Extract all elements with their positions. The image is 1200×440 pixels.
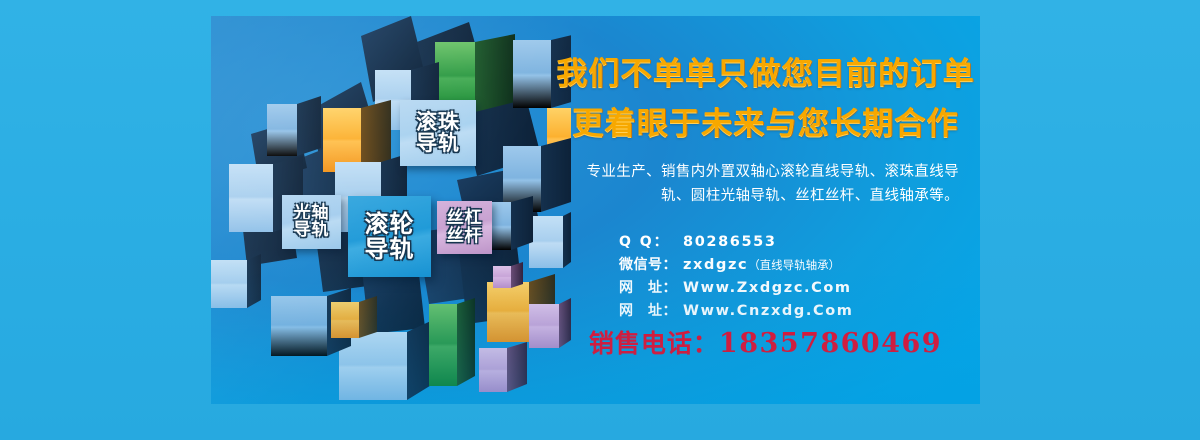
contact-row-website-2: 网 址： Www.Cnzxdg.Com: [551, 300, 980, 323]
contact-label-wechat: 微信号：: [551, 254, 683, 274]
contact-value-wechat[interactable]: zxdgzc: [683, 257, 748, 273]
product-label-line2: 导轨: [416, 133, 460, 154]
product-label-line2: 导轨: [365, 237, 415, 261]
contact-info-block: Q Q： 80286553 微信号： zxdgzc （直线导轨轴承） 网 址： …: [551, 231, 980, 323]
cube-green-bottom: [429, 298, 475, 386]
contact-label-qq: Q Q：: [551, 231, 683, 251]
product-label-guangzhou-daogui[interactable]: 光轴 导轨: [282, 195, 341, 249]
contact-label-website-1: 网 址：: [551, 277, 683, 297]
contact-label-website-2: 网 址：: [551, 300, 683, 320]
contact-note-wechat: （直线导轨轴承）: [748, 257, 840, 273]
headline-line-1: 我们不单单只做您目前的订单: [551, 48, 980, 93]
sales-phone-block[interactable]: 销售电话：18357860469: [551, 324, 980, 360]
product-label-line1: 滚轮: [365, 212, 415, 236]
sales-phone-label: 销售电话：: [589, 329, 719, 358]
cube-blue-far-left: [267, 96, 321, 156]
company-description: 专业生产、销售内外置双轴心滚轮直线导轨、滚珠直线导轨、圆柱光轴导轨、丝杠丝杆、直…: [577, 160, 959, 208]
contact-row-qq: Q Q： 80286553: [551, 231, 980, 254]
product-label-line2: 丝杆: [447, 228, 483, 245]
cube-blue-bottom-farleft: [211, 254, 261, 308]
product-label-gunlun-daogui[interactable]: 滚轮 导轨: [348, 196, 431, 277]
product-label-line1: 丝杠: [447, 210, 483, 227]
product-label-gunzhu-daogui[interactable]: 滚珠 导轨: [400, 100, 476, 166]
cube-pink-mid-right: [479, 342, 527, 392]
product-label-line2: 导轨: [294, 222, 330, 239]
contact-row-website-1: 网 址： Www.Zxdgzc.Com: [551, 277, 980, 300]
headline-line-2: 更着眼于未来与您长期合作: [551, 98, 980, 143]
promo-banner: 滚珠 导轨 光轴 导轨 滚轮 导轨 丝杠 丝杆 我们不单单只做您目前的订单 更着…: [211, 16, 980, 404]
product-label-sigang-sigan[interactable]: 丝杠 丝杆: [437, 201, 492, 254]
sales-phone-number[interactable]: 18357860469: [719, 328, 942, 359]
banner-stage: 滚珠 导轨 光轴 导轨 滚轮 导轨 丝杠 丝杆 我们不单单只做您目前的订单 更着…: [0, 0, 1200, 440]
contact-value-website-2[interactable]: Www.Cnzxdg.Com: [683, 303, 854, 319]
cube-orange-left: [323, 100, 391, 172]
contact-value-qq[interactable]: 80286553: [683, 234, 777, 250]
banner-text-column: 我们不单单只做您目前的订单 更着眼于未来与您长期合作 专业生产、销售内外置双轴心…: [551, 16, 980, 404]
contact-value-website-1[interactable]: Www.Zxdgzc.Com: [683, 280, 852, 296]
product-label-line1: 滚珠: [416, 112, 460, 133]
cube-orange-bottom: [331, 296, 377, 338]
contact-row-wechat: 微信号： zxdgzc （直线导轨轴承）: [551, 254, 980, 277]
